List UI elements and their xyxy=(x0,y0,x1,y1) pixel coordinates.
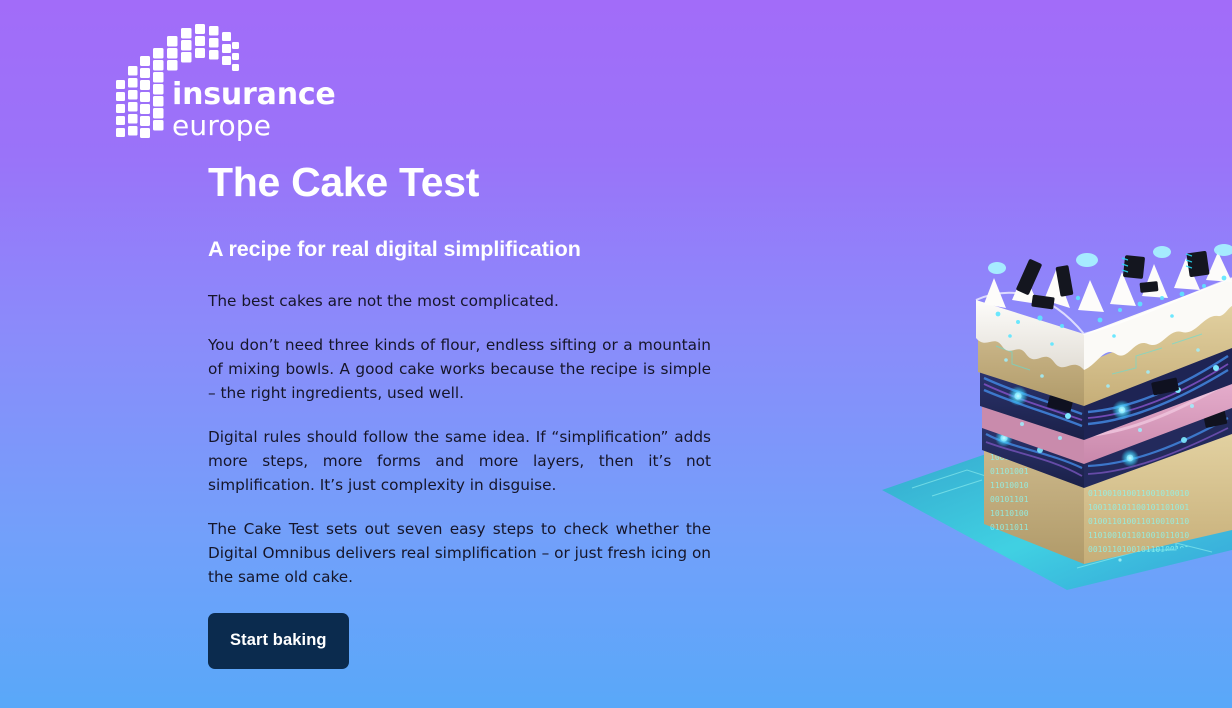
cake-base-layer: 10010110 01101001 11010010 00101101 1011… xyxy=(984,430,1232,564)
cyan-sprinkles xyxy=(996,276,1227,346)
hero-content: The Cake Test A recipe for real digital … xyxy=(208,160,711,669)
circuit-wiring-band-upper xyxy=(980,342,1232,440)
page-title: The Cake Test xyxy=(208,160,711,205)
logo-wordmark: insurance europe xyxy=(172,80,336,140)
svg-text:011001010011001010010: 011001010011001010010 xyxy=(1088,489,1189,498)
meringue-peaks xyxy=(984,252,1232,312)
intro-copy: The best cakes are not the most complica… xyxy=(208,289,711,589)
svg-text:10110100: 10110100 xyxy=(990,509,1029,518)
cream-filling-layer xyxy=(982,380,1232,464)
svg-text:10010110: 10010110 xyxy=(990,453,1029,462)
svg-text:001011010010110100101: 001011010010110100101 xyxy=(1088,545,1189,554)
insurance-europe-logo[interactable]: insurance europe xyxy=(110,18,340,143)
microchip-decorations xyxy=(1016,251,1210,310)
tech-layer-cake-illustration: 10010110 01101001 11010010 00101101 1011… xyxy=(872,238,1232,608)
svg-text:01101001: 01101001 xyxy=(990,467,1029,476)
svg-text:01011011: 01011011 xyxy=(990,523,1029,532)
logo-word-insurance: insurance xyxy=(172,80,336,110)
svg-text:100110101100101101001: 100110101100101101001 xyxy=(1088,503,1189,512)
intro-paragraph-2: You don’t need three kinds of flour, end… xyxy=(208,333,711,405)
svg-text:010011010011010010110: 010011010011010010110 xyxy=(1088,517,1189,526)
page-subtitle: A recipe for real digital simplification xyxy=(208,237,711,262)
intro-paragraph-4: The Cake Test sets out seven easy steps … xyxy=(208,517,711,589)
chip-pins xyxy=(1122,254,1192,272)
svg-text:110100101101001011010: 110100101101001011010 xyxy=(1088,531,1189,540)
floating-cloud-bits xyxy=(988,244,1232,274)
intro-paragraph-1: The best cakes are not the most complica… xyxy=(208,289,711,313)
circuit-board-plate xyxy=(882,438,1232,590)
start-baking-button[interactable]: Start baking xyxy=(208,613,349,669)
icing-layer xyxy=(976,244,1232,370)
svg-text:11010010: 11010010 xyxy=(990,481,1029,490)
cta-container: Start baking xyxy=(208,613,711,669)
svg-text:00101101: 00101101 xyxy=(990,495,1029,504)
top-sponge-layer xyxy=(978,302,1232,406)
logo-word-europe: europe xyxy=(172,112,336,140)
intro-paragraph-3: Digital rules should follow the same ide… xyxy=(208,425,711,497)
circuit-wiring-band-lower xyxy=(982,404,1232,488)
